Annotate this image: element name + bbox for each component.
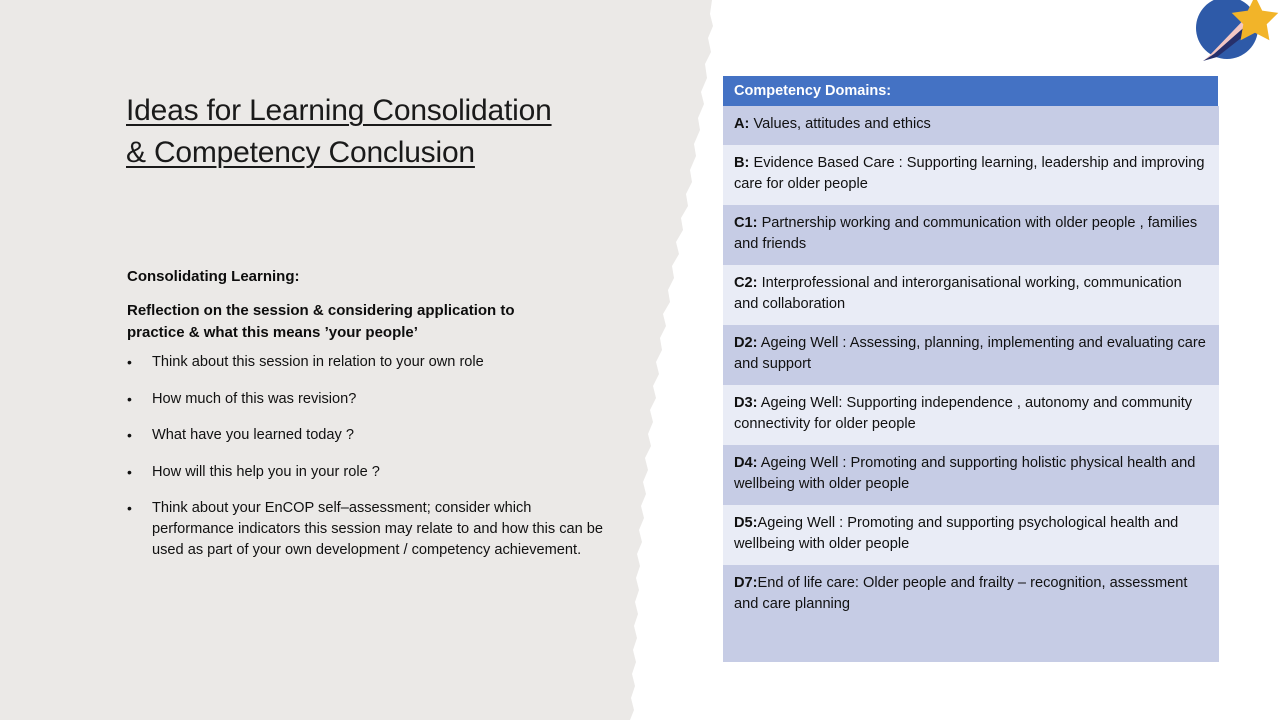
reflection-bullet-list: • Think about this session in relation t… (127, 352, 607, 560)
domain-text: Evidence Based Care : Supporting learnin… (734, 155, 1205, 193)
bullet-icon: • (127, 352, 132, 373)
reflection-heading: Reflection on the session & considering … (127, 300, 572, 343)
domain-code: D5: (734, 515, 758, 531)
table-header: Competency Domains: (723, 76, 1218, 106)
left-content-column: Ideas for Learning Consolidation & Compe… (0, 0, 660, 720)
domain-code: D4: (734, 455, 758, 471)
table-row: D7:End of life care: Older people and fr… (723, 565, 1219, 662)
domain-code: C2: (734, 275, 758, 291)
page-title-line-2: & Competency Conclusion (126, 132, 646, 174)
list-item-label: Think about your EnCOP self–assessment; … (152, 500, 603, 557)
list-item-label: Think about this session in relation to … (152, 354, 484, 370)
domain-code: A: (734, 116, 749, 132)
list-item: • How much of this was revision? (127, 389, 607, 410)
list-item-label: How will this help you in your role ? (152, 464, 380, 480)
table-row: A: Values, attitudes and ethics (723, 106, 1219, 145)
domain-text: Ageing Well: Supporting independence , a… (734, 395, 1192, 433)
table-row: D3: Ageing Well: Supporting independence… (723, 385, 1219, 445)
domain-text: End of life care: Older people and frail… (734, 575, 1187, 613)
domain-text: Ageing Well : Assessing, planning, imple… (734, 335, 1206, 373)
list-item-label: How much of this was revision? (152, 391, 356, 407)
table-row: B: Evidence Based Care : Supporting lear… (723, 145, 1219, 205)
domain-code: D2: (734, 335, 758, 351)
table-row: D5:Ageing Well : Promoting and supportin… (723, 505, 1219, 565)
domain-text: Ageing Well : Promoting and supporting h… (734, 455, 1195, 493)
competency-domains-table: Competency Domains: A: Values, attitudes… (723, 76, 1219, 662)
bullet-icon: • (127, 425, 132, 446)
domain-text: Interprofessional and interorganisationa… (734, 275, 1182, 313)
table-row: C1: Partnership working and communicatio… (723, 205, 1219, 265)
domain-text: Values, attitudes and ethics (749, 116, 930, 132)
domain-code: D7: (734, 575, 758, 591)
domain-code: D3: (734, 395, 758, 411)
consolidating-learning-heading: Consolidating Learning: (127, 267, 597, 287)
domain-text: Ageing Well : Promoting and supporting p… (734, 515, 1178, 553)
list-item: • Think about your EnCOP self–assessment… (127, 498, 607, 560)
page-title: Ideas for Learning Consolidation & Compe… (126, 90, 646, 174)
bullet-icon: • (127, 462, 132, 483)
bullet-icon: • (127, 498, 132, 519)
list-item: • Think about this session in relation t… (127, 352, 607, 373)
list-item-label: What have you learned today ? (152, 427, 354, 443)
table-row: D4: Ageing Well : Promoting and supporti… (723, 445, 1219, 505)
shooting-star-logo (1183, 0, 1280, 66)
domain-code: C1: (734, 215, 758, 231)
domain-code: B: (734, 155, 749, 171)
slide-canvas: Ideas for Learning Consolidation & Compe… (0, 0, 1280, 720)
domain-text: Partnership working and communication wi… (734, 215, 1197, 253)
table-row: C2: Interprofessional and interorganisat… (723, 265, 1219, 325)
list-item: • What have you learned today ? (127, 425, 607, 446)
list-item: • How will this help you in your role ? (127, 462, 607, 483)
table-row: D2: Ageing Well : Assessing, planning, i… (723, 325, 1219, 385)
bullet-icon: • (127, 389, 132, 410)
page-title-line-1: Ideas for Learning Consolidation (126, 90, 646, 132)
